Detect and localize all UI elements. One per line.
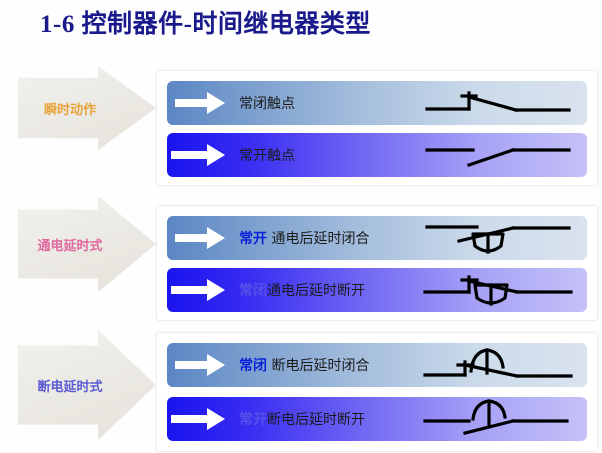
- row-description: 常闭触点: [239, 96, 295, 112]
- slide-canvas: 1-6 控制器件-时间继电器类型 瞬时动作 通电延时式 断电延时式 常闭触点: [0, 0, 602, 453]
- on-delay-normally-closed-icon: [421, 268, 581, 312]
- off-delay-normally-open-icon: [421, 397, 581, 441]
- row-label: 常开触点: [239, 145, 295, 165]
- page-title: 1-6 控制器件-时间继电器类型: [40, 4, 371, 40]
- white-right-arrow-icon: [171, 216, 233, 260]
- row-label: 常闭触点: [239, 93, 295, 113]
- normally-closed-contact-icon: [421, 81, 581, 125]
- arrow-banner-on-delay[interactable]: 通电延时式: [18, 196, 156, 292]
- arrow-banner-off-delay[interactable]: 断电延时式: [18, 330, 156, 440]
- row-keyword: 常闭: [239, 358, 267, 374]
- white-right-arrow-icon: [171, 81, 233, 125]
- row-description: 断电后延时断开: [267, 412, 365, 428]
- row-description: 通电后延时闭合: [271, 231, 369, 247]
- row-keyword: 常闭: [239, 283, 267, 299]
- row-keyword: 常开: [239, 231, 267, 247]
- row-label: 常闭 断电后延时闭合: [239, 355, 369, 375]
- normally-open-contact-icon: [421, 133, 581, 177]
- arrow-banner-label: 通电延时式: [18, 235, 156, 254]
- row-label: 常开 通电后延时闭合: [239, 228, 369, 248]
- row-keyword: 常开: [239, 412, 267, 428]
- row-on-delay-normally-closed[interactable]: 常闭通电后延时断开: [167, 268, 587, 312]
- white-right-arrow-icon: [171, 343, 233, 387]
- panel-on-delay: 常开 通电后延时闭合: [156, 205, 598, 321]
- row-off-delay-normally-open[interactable]: 常开断电后延时断开: [167, 397, 587, 441]
- arrow-banner-label: 断电延时式: [18, 376, 156, 395]
- white-right-arrow-icon: [171, 133, 233, 177]
- off-delay-normally-closed-icon: [421, 343, 581, 387]
- row-off-delay-normally-closed[interactable]: 常闭 断电后延时闭合: [167, 343, 587, 387]
- row-label: 常闭通电后延时断开: [239, 280, 365, 300]
- white-right-arrow-icon: [171, 268, 233, 312]
- panel-off-delay: 常闭 断电后延时闭合: [156, 332, 598, 452]
- row-normally-open-contact[interactable]: 常开触点: [167, 133, 587, 177]
- on-delay-normally-open-icon: [421, 216, 581, 260]
- row-label: 常开断电后延时断开: [239, 409, 365, 429]
- row-description: 断电后延时闭合: [271, 358, 369, 374]
- white-right-arrow-icon: [171, 397, 233, 441]
- row-on-delay-normally-open[interactable]: 常开 通电后延时闭合: [167, 216, 587, 260]
- panel-instantaneous: 常闭触点: [156, 70, 598, 186]
- row-normally-closed-contact[interactable]: 常闭触点: [167, 81, 587, 125]
- row-description: 通电后延时断开: [267, 283, 365, 299]
- arrow-banner-label: 瞬时动作: [18, 99, 156, 118]
- arrow-banner-instantaneous[interactable]: 瞬时动作: [18, 66, 156, 150]
- row-description: 常开触点: [239, 148, 295, 164]
